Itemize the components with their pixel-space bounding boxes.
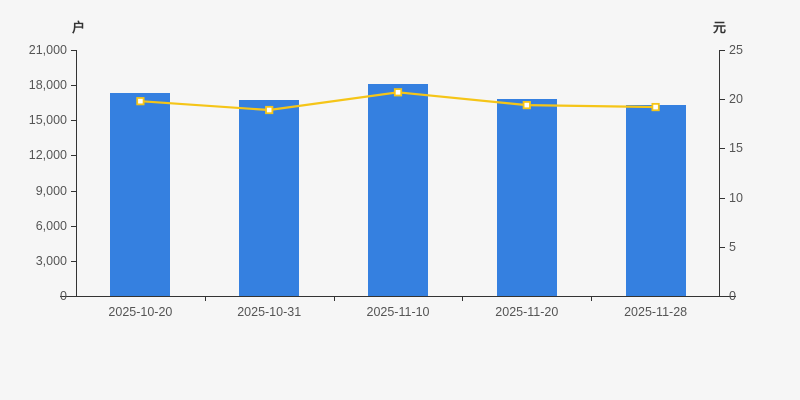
x-axis-category-label: 2025-11-20 [495,305,558,319]
right-axis-tick-label: 5 [729,241,736,254]
bar [497,99,557,296]
right-axis-tick [720,50,725,51]
right-axis-tick-label: 0 [729,290,736,303]
x-axis-tick [205,296,206,301]
chart-container: 户 元 03,0006,0009,00012,00015,00018,00021… [0,0,800,400]
left-axis-tick-label: 6,000 [0,220,76,233]
bar [110,93,170,296]
left-axis-line [76,50,77,296]
left-axis-tick-label: 18,000 [0,79,76,92]
right-axis-tick-label: 20 [729,93,743,106]
left-axis-tick-label: 3,000 [0,255,76,268]
right-axis-tick [720,99,725,100]
left-axis-tick-label: 12,000 [0,149,76,162]
plot-area: 03,0006,0009,00012,00015,00018,00021,000… [76,50,720,296]
left-axis-tick-label: 0 [0,290,76,303]
right-axis-line [719,50,720,296]
x-axis-category-label: 2025-10-20 [108,305,172,319]
right-axis-tick [720,247,725,248]
right-axis-tick [720,198,725,199]
x-axis-tick [462,296,463,301]
x-axis-category-label: 2025-10-31 [237,305,301,319]
x-axis-tick [334,296,335,301]
x-axis-category-label: 2025-11-28 [624,305,687,319]
left-axis-tick-label: 15,000 [0,114,76,127]
left-axis-tick-label: 9,000 [0,185,76,198]
x-axis-category-label: 2025-11-10 [366,305,429,319]
right-axis-unit-label: 元 [713,17,726,36]
left-axis-tick-label: 21,000 [0,44,76,57]
right-axis-tick [720,296,725,297]
right-axis-tick-label: 10 [729,192,743,205]
right-axis-tick-label: 15 [729,142,743,155]
x-axis-line [60,296,736,297]
left-axis-unit-label: 户 [72,17,85,36]
x-axis-tick [591,296,592,301]
right-axis-tick-label: 25 [729,44,743,57]
bar [239,100,299,296]
bar [626,105,686,296]
bar [368,84,428,296]
right-axis-tick [720,148,725,149]
